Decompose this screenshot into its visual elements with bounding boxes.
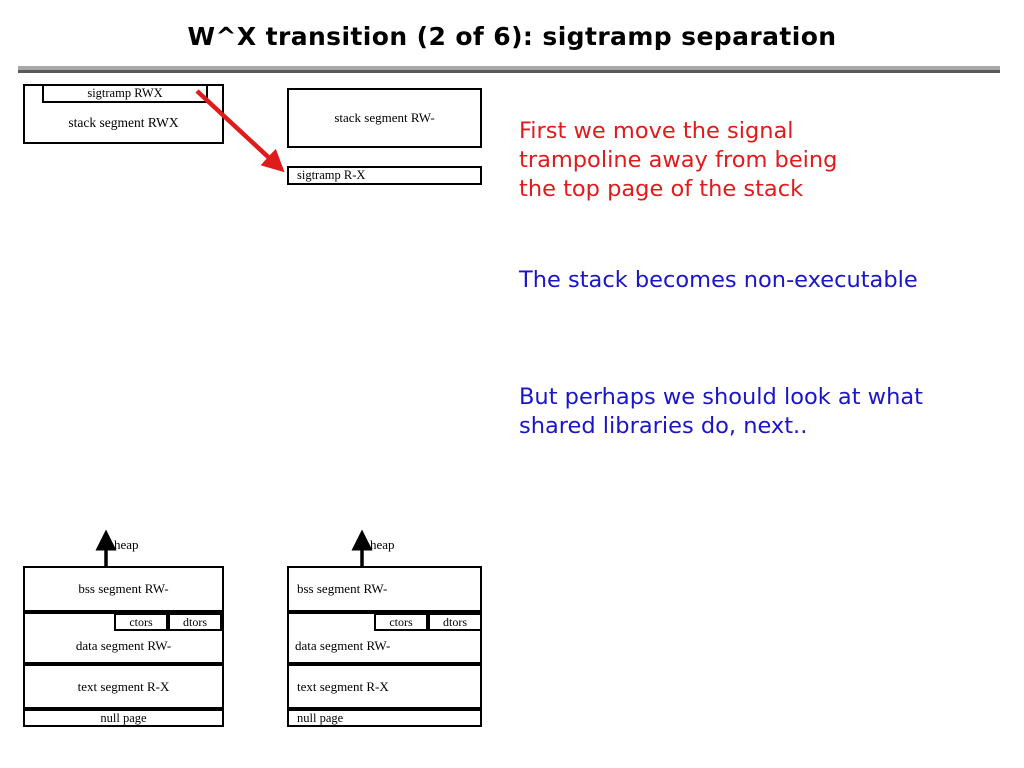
sigtramp-before-label: sigtramp RWX (87, 86, 162, 101)
sigtramp-before-box: sigtramp RWX (42, 84, 208, 103)
ctors-label-left: ctors (129, 615, 152, 630)
bss-segment-left: bss segment RW- (23, 566, 224, 612)
data-segment-right-label: data segment RW- (295, 638, 390, 654)
heap-label-left: heap (114, 537, 139, 553)
null-page-left: null page (23, 709, 224, 727)
move-sigtramp-arrow (185, 82, 300, 187)
text-segment-left: text segment R-X (23, 664, 224, 709)
note-shared-libraries: But perhaps we should look at what share… (519, 383, 923, 441)
page-title: W^X transition (2 of 6): sigtramp separa… (0, 22, 1024, 51)
dtors-box-right: dtors (428, 613, 482, 631)
note-stack-non-executable: The stack becomes non-executable (519, 266, 918, 295)
ctors-label-right: ctors (389, 615, 412, 630)
null-page-right-label: null page (297, 711, 343, 726)
ctors-box-left: ctors (114, 613, 168, 631)
bss-segment-left-label: bss segment RW- (78, 581, 168, 597)
dtors-label-right: dtors (443, 615, 467, 630)
ctors-box-right: ctors (374, 613, 428, 631)
dtors-box-left: dtors (168, 613, 222, 631)
slide-canvas: W^X transition (2 of 6): sigtramp separa… (0, 0, 1024, 768)
sigtramp-after-label: sigtramp R-X (297, 168, 365, 183)
stack-after-label: stack segment RW- (334, 110, 434, 126)
text-segment-right-label: text segment R-X (297, 679, 389, 695)
title-divider (18, 66, 1000, 73)
note-move-trampoline: First we move the signal trampoline away… (519, 117, 837, 204)
bss-segment-right: bss segment RW- (287, 566, 482, 612)
dtors-label-left: dtors (183, 615, 207, 630)
heap-label-right: heap (370, 537, 395, 553)
bss-segment-right-label: bss segment RW- (297, 581, 387, 597)
data-segment-left-label: data segment RW- (23, 638, 224, 654)
null-page-left-label: null page (100, 711, 146, 726)
sigtramp-after-box: sigtramp R-X (287, 166, 482, 185)
stack-after-box: stack segment RW- (287, 88, 482, 148)
text-segment-right: text segment R-X (287, 664, 482, 709)
text-segment-left-label: text segment R-X (78, 679, 170, 695)
null-page-right: null page (287, 709, 482, 727)
